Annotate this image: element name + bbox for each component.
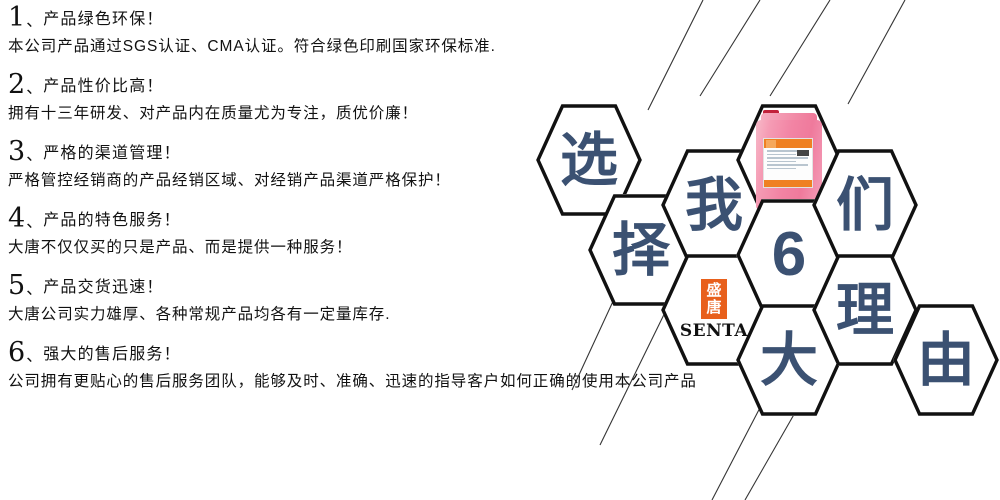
label-barcode — [797, 150, 809, 156]
reason-4-title: 产品的特色服务！ — [43, 206, 181, 230]
reason-6-body: 公司拥有更贴心的售后服务团队，能够及时、准确、迅速的指导客户如何正确的使用本公司… — [8, 369, 698, 391]
reason-1-body: 本公司产品通过SGS认证、CMA认证。符合绿色印刷国家环保标准. — [8, 34, 698, 56]
logo-seal-icon: 盛 唐 — [701, 279, 727, 319]
reason-3-separator: 、 — [26, 141, 42, 165]
reason-5-separator: 、 — [26, 275, 42, 299]
reason-6-separator: 、 — [26, 342, 42, 366]
label-line — [767, 154, 796, 156]
hex-label-men: 们 — [812, 149, 918, 261]
reason-4-number: 4 — [8, 205, 25, 232]
hex-label-you: 由 — [893, 304, 999, 416]
reason-6-number: 6 — [8, 339, 25, 366]
reason-3-title: 严格的渠道管理！ — [43, 139, 181, 163]
reason-2-separator: 、 — [26, 74, 42, 98]
hex-cell-you[interactable]: 由 — [893, 304, 999, 416]
label-line — [767, 157, 808, 159]
reason-6-heading: 6 、 强大的售后服务！ — [8, 339, 698, 366]
reason-2-title: 产品性价比高！ — [43, 72, 163, 96]
drum-label — [763, 138, 813, 188]
reason-item-6: 6 、 强大的售后服务！ 公司拥有更贴心的售后服务团队，能够及时、准确、迅速的指… — [8, 339, 698, 391]
hex-cell-men[interactable]: 们 — [812, 149, 918, 261]
reason-4-separator: 、 — [26, 208, 42, 232]
label-logo-square — [766, 140, 776, 148]
reason-5-title: 产品交货迅速！ — [43, 273, 163, 297]
logo-seal-bottom: 唐 — [706, 299, 721, 316]
label-line — [767, 164, 808, 166]
reason-1-title: 产品绿色环保！ — [43, 5, 163, 29]
reason-5-number: 5 — [8, 272, 25, 299]
reason-2-number: 2 — [8, 71, 25, 98]
reason-1-number: 1 — [8, 4, 25, 31]
reason-6-title: 强大的售后服务！ — [43, 340, 181, 364]
logo-seal-top: 盛 — [706, 282, 721, 299]
reason-1-separator: 、 — [26, 7, 42, 31]
reason-3-number: 3 — [8, 138, 25, 165]
label-bottom-bar — [764, 180, 812, 187]
label-line — [767, 168, 796, 170]
label-line — [767, 161, 796, 163]
reason-2-heading: 2 、 产品性价比高！ — [8, 71, 698, 98]
reason-1-heading: 1 、 产品绿色环保！ — [8, 4, 698, 31]
reason-item-1: 1 、 产品绿色环保！ 本公司产品通过SGS认证、CMA认证。符合绿色印刷国家环… — [8, 4, 698, 56]
promo-page: 1 、 产品绿色环保！ 本公司产品通过SGS认证、CMA认证。符合绿色印刷国家环… — [0, 0, 1000, 500]
